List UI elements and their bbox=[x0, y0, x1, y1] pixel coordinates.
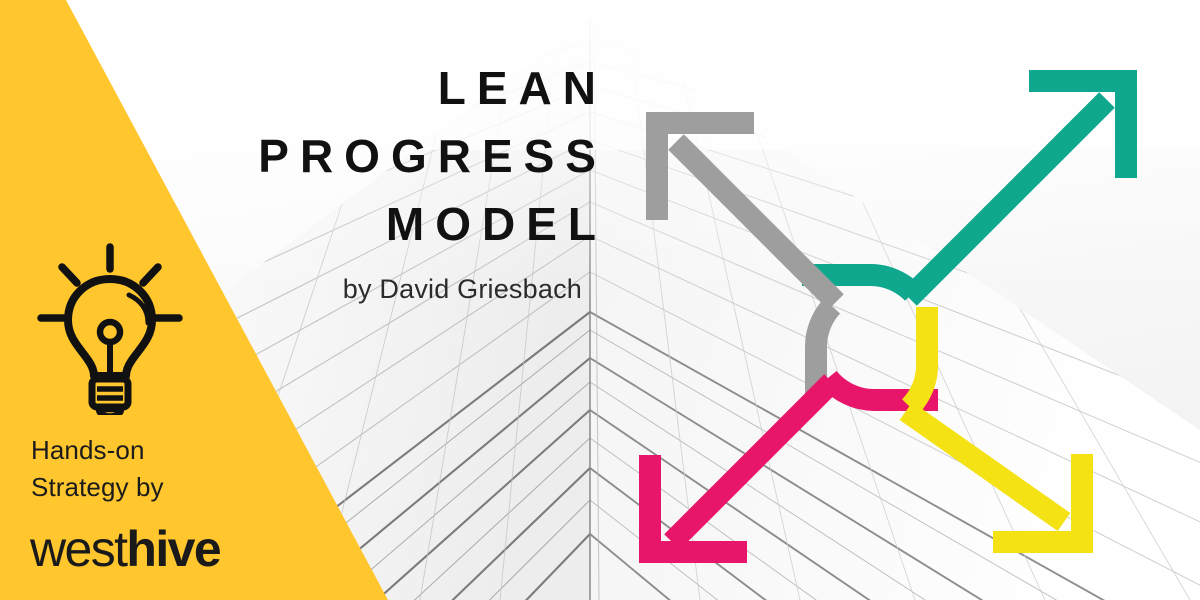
banner-canvas: LEAN PROGRESS MODEL by David Griesbach H… bbox=[0, 0, 1200, 600]
tagline-line-1: Hands-on bbox=[31, 432, 164, 469]
arrow-down-left-icon bbox=[650, 378, 938, 552]
logo-word-hive: hive bbox=[126, 521, 220, 577]
logo-word-west: west bbox=[30, 521, 126, 577]
arrow-down-right-icon bbox=[906, 307, 1082, 542]
tagline: Hands-on Strategy by bbox=[31, 432, 164, 506]
title-line-2: PROGRESS bbox=[0, 122, 607, 190]
tagline-line-2: Strategy by bbox=[31, 469, 164, 506]
arrow-up-right-icon bbox=[802, 81, 1126, 298]
title-line-1: LEAN bbox=[0, 54, 607, 122]
lightbulb-icon bbox=[36, 243, 184, 415]
westhive-logo: westhive bbox=[30, 520, 220, 578]
four-arrow-pinwheel bbox=[620, 30, 1180, 570]
arrow-up-left-icon bbox=[657, 123, 836, 402]
